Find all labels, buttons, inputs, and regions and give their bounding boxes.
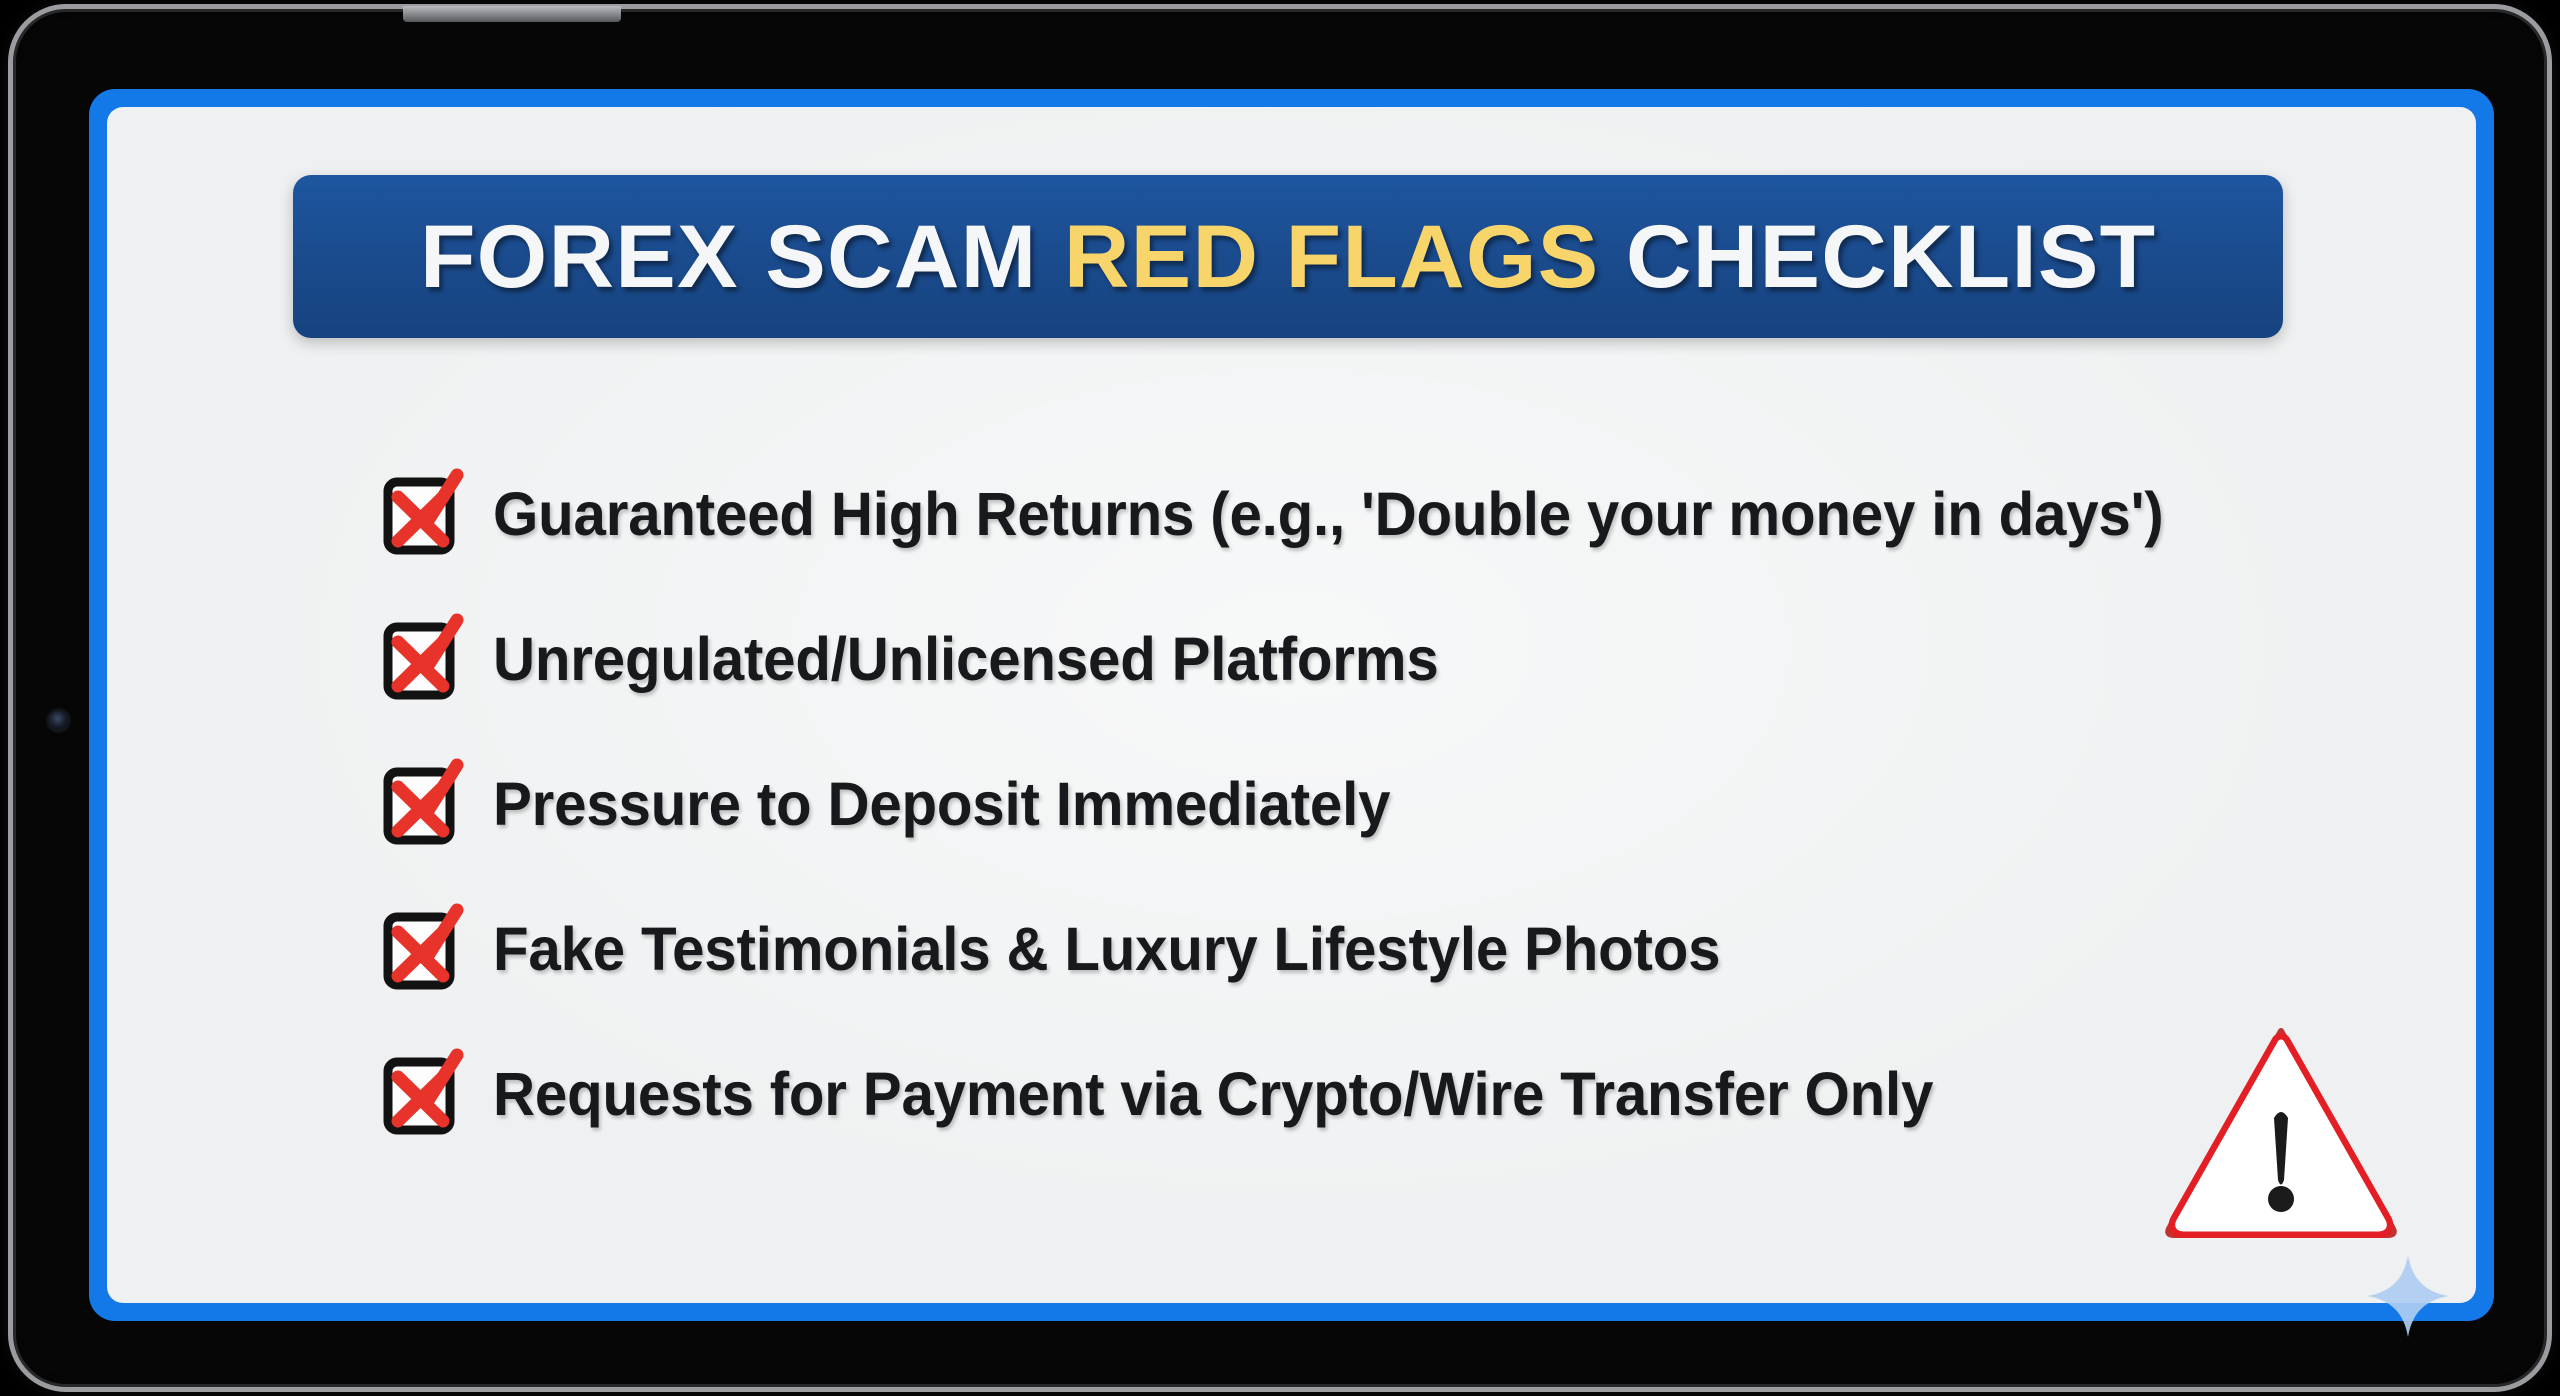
checkbox-red-x-icon[interactable] <box>383 473 459 555</box>
checkbox-red-x-icon[interactable] <box>383 763 459 845</box>
checkbox-red-x-icon[interactable] <box>383 908 459 990</box>
list-item[interactable]: Fake Testimonials & Luxury Lifestyle Pho… <box>107 876 2476 1021</box>
list-item[interactable]: Unregulated/Unlicensed Platforms <box>107 586 2476 731</box>
list-item[interactable]: Requests for Payment via Crypto/Wire Tra… <box>107 1021 2476 1166</box>
list-item-label: Guaranteed High Returns (e.g., 'Double y… <box>493 479 2163 549</box>
title-part-highlight: RED FLAGS <box>1064 206 1600 306</box>
checkbox-red-x-icon[interactable] <box>383 1053 459 1135</box>
checkbox-red-x-icon[interactable] <box>383 618 459 700</box>
title-part-two: CHECKLIST <box>1599 206 2156 306</box>
title-part-one: FOREX SCAM <box>420 206 1064 306</box>
title-banner: FOREX SCAM RED FLAGS CHECKLIST <box>293 175 2283 338</box>
list-item[interactable]: Pressure to Deposit Immediately <box>107 731 2476 876</box>
camera-dot-icon <box>49 711 68 730</box>
top-button-icon[interactable] <box>403 6 621 22</box>
red-flags-checklist: Guaranteed High Returns (e.g., 'Double y… <box>107 441 2476 1166</box>
page-title: FOREX SCAM RED FLAGS CHECKLIST <box>420 212 2156 301</box>
list-item-label: Requests for Payment via Crypto/Wire Tra… <box>493 1059 1933 1129</box>
sparkle-icon <box>2365 1253 2451 1339</box>
slide-screen: FOREX SCAM RED FLAGS CHECKLIST <box>89 89 2494 1321</box>
tablet-device-frame: FOREX SCAM RED FLAGS CHECKLIST <box>8 4 2552 1392</box>
list-item-label: Pressure to Deposit Immediately <box>493 769 1390 839</box>
list-item[interactable]: Guaranteed High Returns (e.g., 'Double y… <box>107 441 2476 586</box>
list-item-label: Unregulated/Unlicensed Platforms <box>493 624 1439 694</box>
slide-content: FOREX SCAM RED FLAGS CHECKLIST <box>107 107 2476 1303</box>
list-item-label: Fake Testimonials & Luxury Lifestyle Pho… <box>493 914 1720 984</box>
warning-triangle-exclamation-icon <box>2164 1023 2398 1241</box>
